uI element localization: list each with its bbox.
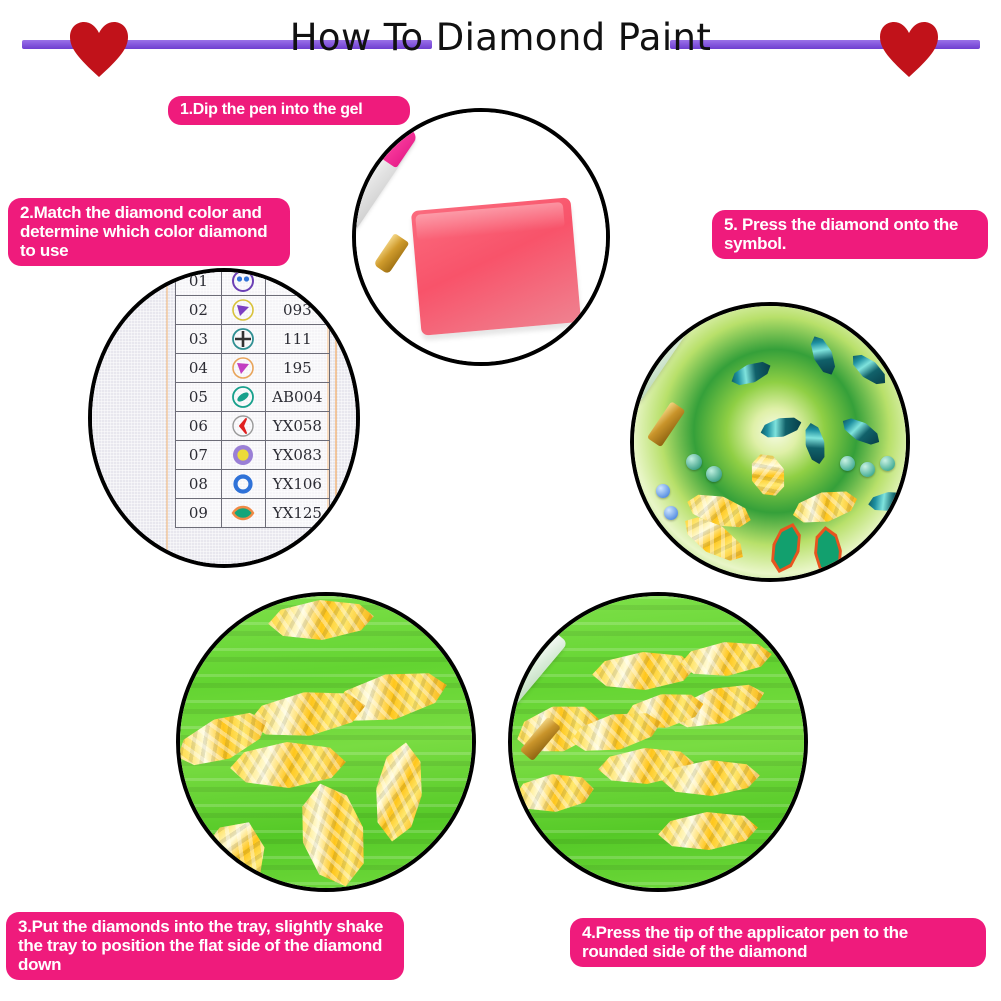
chart-code: 093 — [265, 296, 329, 325]
pickup-scene — [512, 596, 804, 888]
chart-code: YX106 — [265, 470, 329, 499]
arrow-left-icon — [221, 412, 265, 441]
applicator-pen-tip — [373, 233, 409, 275]
chart-code: 111 — [265, 325, 329, 354]
color-legend-table: 01 020 02 093 03 — [175, 268, 330, 528]
table-row: 09 YX125 — [176, 499, 330, 528]
chart-number: 09 — [176, 499, 222, 528]
mandala-canvas-scene — [634, 306, 906, 578]
pen-gel-scene — [356, 112, 606, 362]
triangle-icon — [221, 296, 265, 325]
diamond-gem-being-placed — [745, 449, 792, 502]
chart-number: 05 — [176, 383, 222, 412]
chart-code: AB004 — [265, 383, 329, 412]
leaf-icon — [221, 499, 265, 528]
page-header: How To Diamond Paint — [0, 0, 1001, 80]
step-2-label: 2.Match the diamond color and determine … — [8, 198, 290, 266]
chart-guide-line — [335, 272, 337, 564]
table-row: 06 YX058 — [176, 412, 330, 441]
chart-number: 06 — [176, 412, 222, 441]
chart-number: 08 — [176, 470, 222, 499]
photo-tray — [176, 592, 476, 892]
chart-number: 02 — [176, 296, 222, 325]
ring-icon — [221, 470, 265, 499]
applicator-pen-body — [630, 304, 693, 403]
step-1-label: 1.Dip the pen into the gel — [168, 96, 410, 125]
table-row: 02 093 — [176, 296, 330, 325]
round-drill — [656, 484, 670, 498]
round-drill — [686, 454, 702, 470]
applicator-pen-tip — [647, 401, 686, 447]
round-drill — [880, 456, 895, 471]
diamond-gem — [847, 349, 891, 391]
round-drill — [706, 466, 722, 482]
double-dot-icon — [221, 268, 265, 296]
step-4-label: 4.Press the tip of the applicator pen to… — [570, 918, 986, 967]
table-row: 05 AB004 — [176, 383, 330, 412]
tray-scene — [180, 596, 472, 888]
photo-press-symbol — [630, 302, 910, 582]
chart-number: 01 — [176, 268, 222, 296]
diamond-gem — [728, 357, 774, 390]
diamond-gem — [789, 484, 860, 529]
chart-code: YX125 — [265, 499, 329, 528]
chart-code: YX083 — [265, 441, 329, 470]
table-row: 07 YX083 — [176, 441, 330, 470]
gel-pad — [411, 197, 581, 335]
photo-color-chart: 01 020 02 093 03 — [88, 268, 360, 568]
diamond-gem — [758, 413, 803, 442]
table-row: 08 YX106 — [176, 470, 330, 499]
ellipse-icon — [221, 383, 265, 412]
chart-guide-line — [166, 272, 168, 564]
chart-number: 03 — [176, 325, 222, 354]
diamond-gem — [801, 421, 828, 466]
plus-icon — [221, 325, 265, 354]
chart-code: YX058 — [265, 412, 329, 441]
page-title: How To Diamond Paint — [0, 16, 1001, 59]
photo-pickup — [508, 592, 808, 892]
round-drill — [664, 506, 678, 520]
chart-number: 07 — [176, 441, 222, 470]
diamond-gem — [838, 413, 884, 450]
color-chart-scene: 01 020 02 093 03 — [92, 272, 356, 564]
table-row: 04 195 — [176, 354, 330, 383]
table-row: 01 020 — [176, 268, 330, 296]
chart-code: 195 — [265, 354, 329, 383]
diamond-gem — [867, 489, 910, 514]
triangle-icon — [221, 354, 265, 383]
diamond-gem — [806, 332, 840, 378]
step-3-label: 3.Put the diamonds into the tray, slight… — [6, 912, 404, 980]
table-row: 03 111 — [176, 325, 330, 354]
chart-number: 04 — [176, 354, 222, 383]
photo-pen-gel — [352, 108, 610, 366]
step-5-label: 5. Press the diamond onto the symbol. — [712, 210, 988, 259]
filled-circle-icon — [221, 441, 265, 470]
round-drill — [840, 456, 855, 471]
round-drill — [860, 462, 875, 477]
chart-code: 020 — [265, 268, 329, 296]
